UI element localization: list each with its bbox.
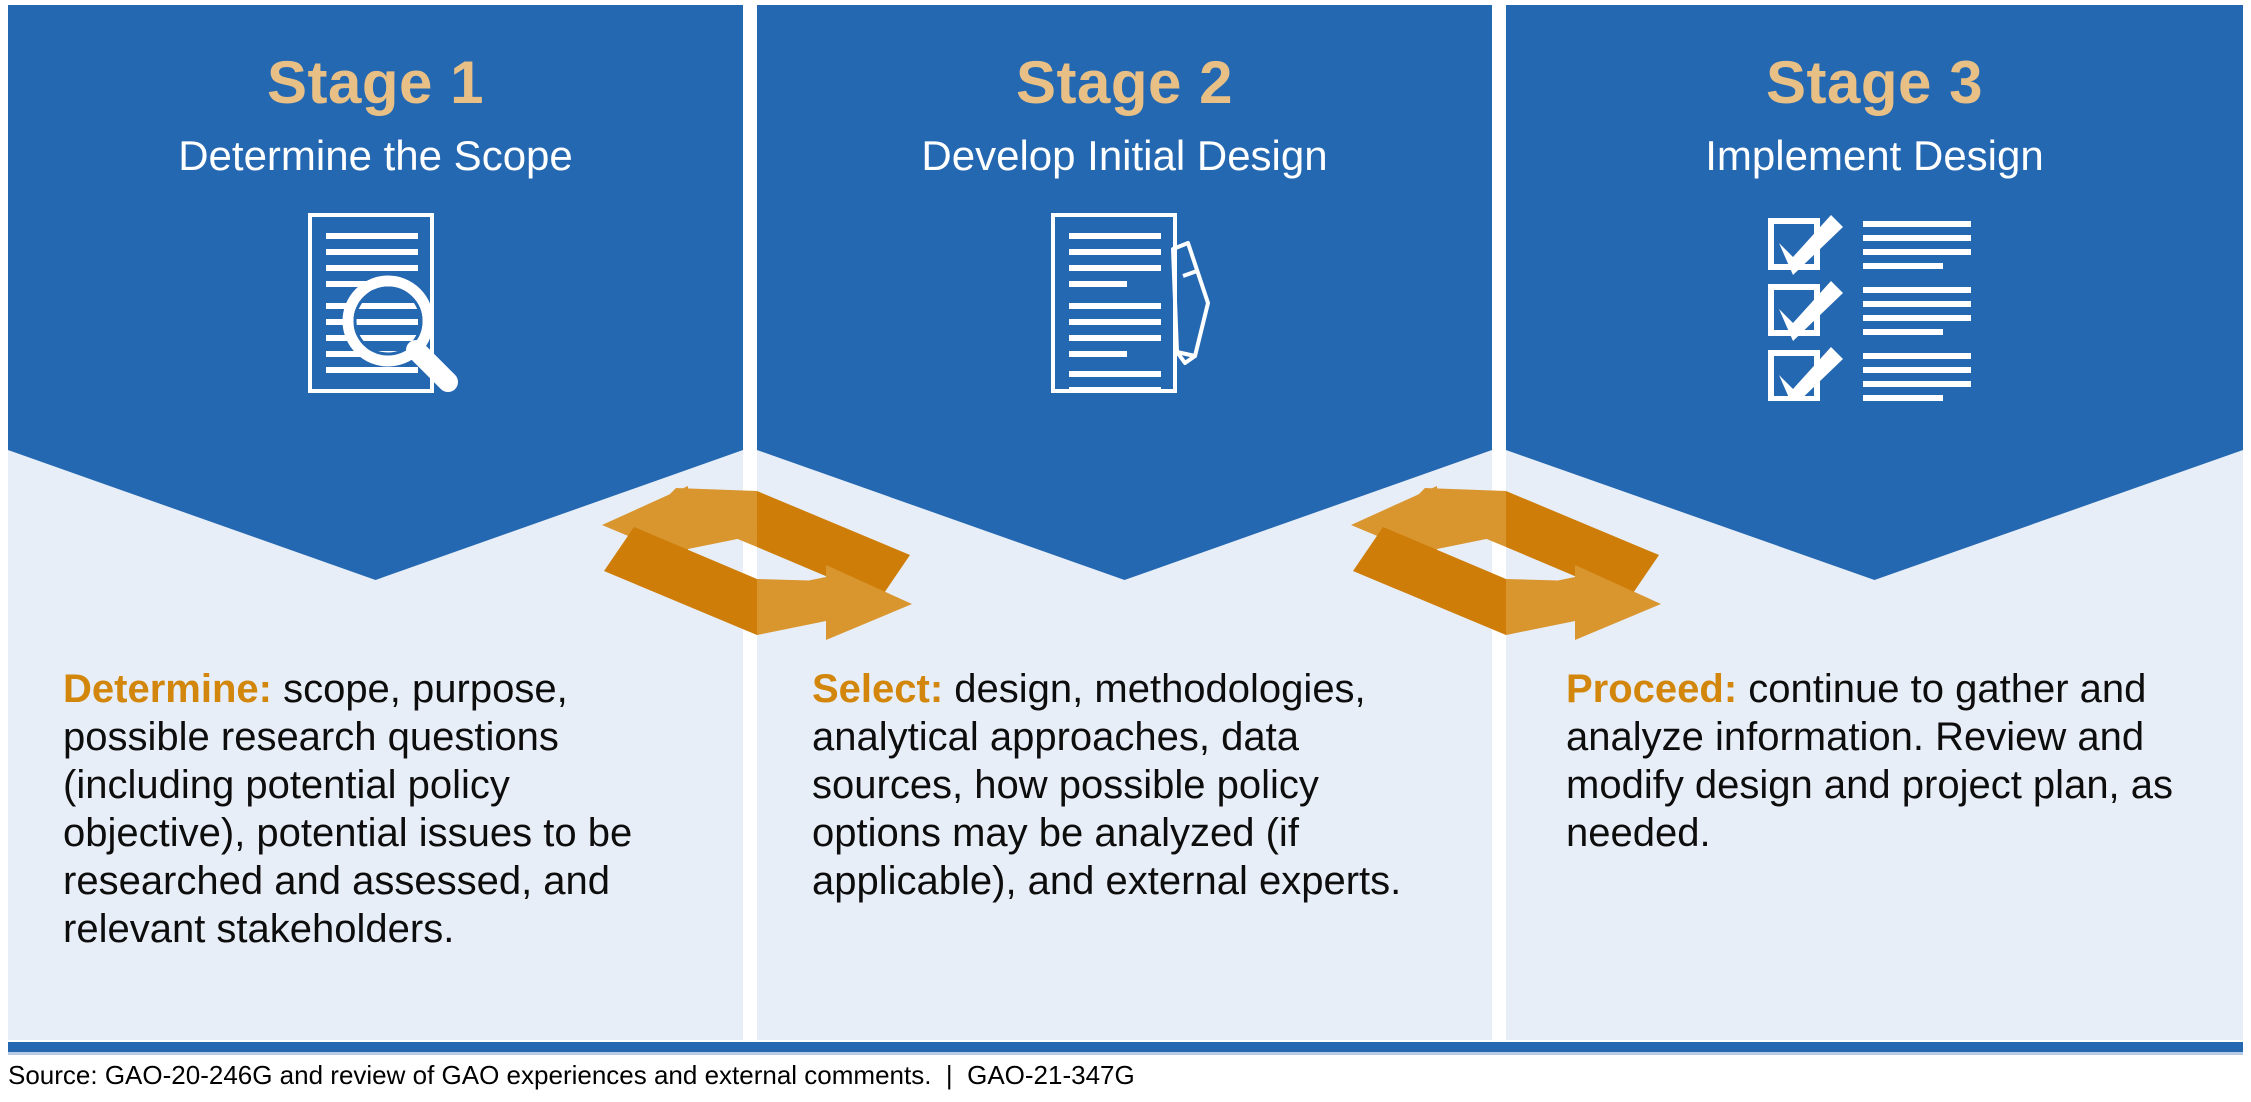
footer-rule xyxy=(8,1042,2243,1052)
process-diagram: Stage 1 Determine the Scope xyxy=(0,0,2251,1102)
stage-1-lead: Determine: xyxy=(63,667,272,711)
document-pen-icon xyxy=(1025,211,1225,401)
stage-2-description: Select: design, methodologies, analytica… xyxy=(812,665,1450,905)
stage-1-subtitle: Determine the Scope xyxy=(178,135,573,177)
cyclical-arrows-icon-1 xyxy=(592,483,922,643)
stage-2-subtitle: Develop Initial Design xyxy=(921,135,1327,177)
stage-3-description: Proceed: continue to gather and analyze … xyxy=(1566,665,2213,857)
stage-2-lead: Select: xyxy=(812,667,943,711)
stage-3-subtitle: Implement Design xyxy=(1705,135,2043,177)
checklist-icon xyxy=(1765,211,1985,401)
stage-2-title: Stage 2 xyxy=(1016,53,1233,113)
stage-1-description: Determine: scope, purpose, possible rese… xyxy=(63,665,701,953)
document-magnifier-icon xyxy=(276,211,476,401)
footer-rule-shadow xyxy=(8,1052,2243,1055)
stage-3-title: Stage 3 xyxy=(1766,53,1983,113)
stage-1-title: Stage 1 xyxy=(267,53,484,113)
cyclical-arrows-icon-2 xyxy=(1341,483,1671,643)
source-note: Source: GAO-20-246G and review of GAO ex… xyxy=(8,1062,1135,1088)
stage-3-lead: Proceed: xyxy=(1566,667,1737,711)
